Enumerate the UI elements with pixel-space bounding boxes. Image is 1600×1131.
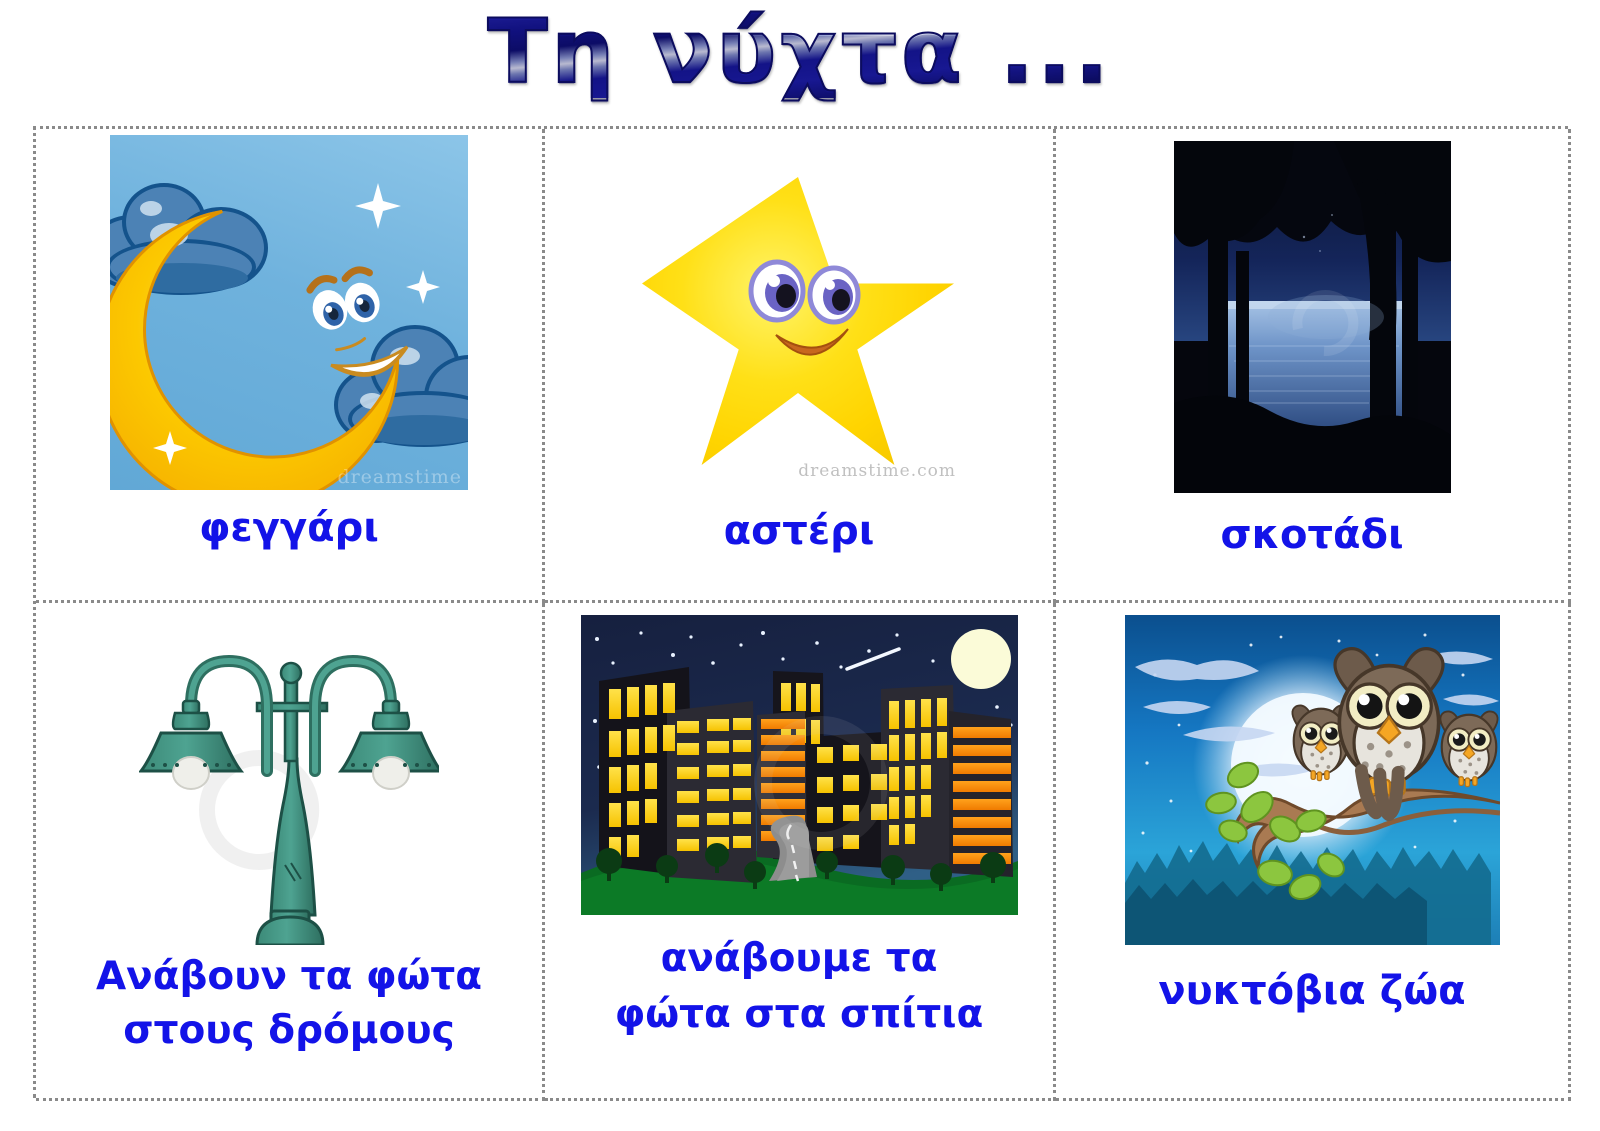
page-title-container: Τη νύχτα ...: [0, 6, 1600, 98]
cell-nocturnal-animals: νυκτόβια ζώα: [1056, 603, 1571, 1101]
poster-page: Τη νύχτα ...: [0, 0, 1600, 1131]
owls-illustration: [1125, 615, 1500, 945]
cell-label-street-lights-line2: στους δρόμους: [36, 1007, 542, 1055]
cell-label-nocturnal-animals: νυκτόβια ζώα: [1056, 967, 1568, 1016]
cell-label-house-lights-line2: φώτα στα σπίτια: [545, 991, 1053, 1039]
page-title: Τη νύχτα ...: [488, 6, 1113, 98]
cell-darkness: σκοτάδι: [1056, 129, 1571, 603]
moon-illustration: dreamstime: [110, 135, 468, 490]
cell-house-lights: ανάβουμε τα φώτα στα σπίτια: [545, 603, 1056, 1101]
star-illustration: dreamstime.com: [634, 163, 964, 493]
street-lamp-icon: [139, 615, 439, 945]
cell-label-moon: φεγγάρι: [36, 504, 542, 553]
lamp-head-right-icon: [341, 701, 439, 789]
night-lake-scene-icon: [1174, 141, 1451, 493]
dark-lake-photo: [1174, 141, 1451, 493]
night-city-illustration: [581, 615, 1018, 915]
star-face-icon: [634, 163, 964, 493]
city-skyline-icon: [581, 615, 1018, 915]
street-lamp-illustration: [139, 615, 439, 945]
cell-star: dreamstime.com αστέρι: [545, 129, 1056, 603]
owls-on-branch-icon: [1125, 615, 1500, 945]
cell-street-lights: Ανάβουν τα φώτα στους δρόμους: [36, 603, 545, 1101]
night-concepts-table: dreamstime φεγγάρι dreamstime.: [33, 126, 1568, 1098]
cell-label-star: αστέρι: [545, 507, 1053, 556]
watermark-text: dreamstime.com: [798, 461, 956, 481]
sparkle-stars-icon: [110, 135, 468, 490]
watermark-text: dreamstime: [337, 466, 462, 488]
cell-label-darkness: σκοτάδι: [1056, 511, 1568, 560]
cell-label-house-lights-line1: ανάβουμε τα: [545, 935, 1053, 983]
cell-moon: dreamstime φεγγάρι: [36, 129, 545, 603]
cell-label-street-lights-line1: Ανάβουν τα φώτα: [36, 953, 542, 1001]
